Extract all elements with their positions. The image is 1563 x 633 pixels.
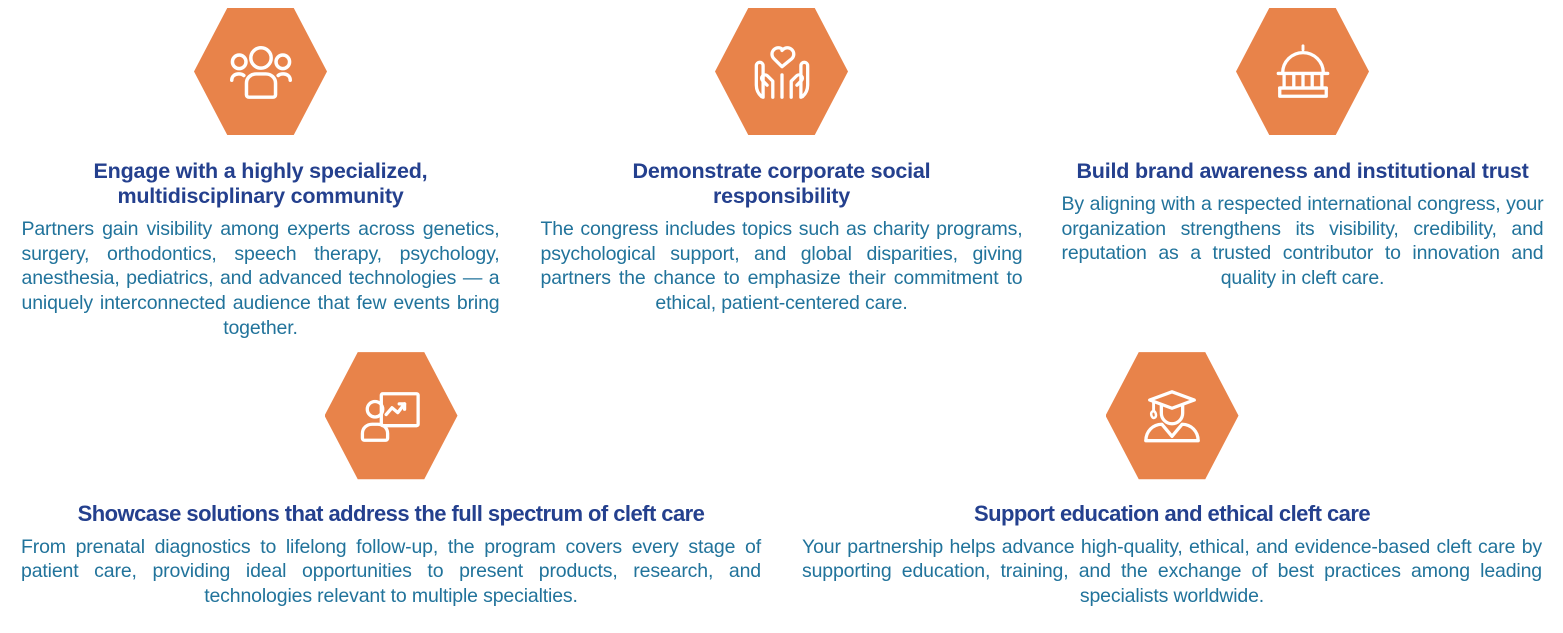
card-body: Partners gain visibility among experts a… bbox=[22, 217, 500, 340]
hexagon-badge bbox=[325, 350, 458, 481]
institution-building-icon bbox=[1272, 43, 1334, 101]
card-title: Support education and ethical cleft care bbox=[792, 501, 1552, 527]
benefit-card-showcase: Showcase solutions that address the full… bbox=[1, 350, 782, 608]
benefits-row-bottom: Showcase solutions that address the full… bbox=[0, 340, 1563, 608]
hexagon-badge bbox=[1106, 350, 1239, 481]
hexagon-badge bbox=[715, 6, 848, 137]
card-body: Your partnership helps advance high-qual… bbox=[802, 535, 1542, 609]
benefit-card-brand-trust: Build brand awareness and institutional … bbox=[1042, 6, 1563, 291]
card-title: Showcase solutions that address the full… bbox=[11, 501, 771, 527]
benefit-card-community: Engage with a highly specialized, multid… bbox=[0, 6, 521, 340]
card-title: Engage with a highly specialized, multid… bbox=[26, 159, 496, 209]
card-body: The congress includes topics such as cha… bbox=[541, 217, 1023, 316]
card-title: Demonstrate corporate social responsibil… bbox=[567, 159, 997, 209]
graduate-student-icon bbox=[1141, 387, 1203, 445]
card-title: Build brand awareness and institutional … bbox=[1058, 159, 1548, 184]
heart-in-hands-icon bbox=[751, 43, 813, 101]
card-body: From prenatal diagnostics to lifelong fo… bbox=[21, 535, 761, 609]
benefit-card-responsibility: Demonstrate corporate social responsibil… bbox=[521, 6, 1042, 316]
card-body: By aligning with a respected internation… bbox=[1062, 192, 1544, 291]
hexagon-badge bbox=[1236, 6, 1369, 137]
presentation-chart-icon bbox=[360, 387, 422, 445]
benefits-row-top: Engage with a highly specialized, multid… bbox=[0, 0, 1563, 340]
benefit-card-education: Support education and ethical cleft care… bbox=[782, 350, 1563, 608]
benefits-board: Engage with a highly specialized, multid… bbox=[0, 0, 1563, 633]
hexagon-badge bbox=[194, 6, 327, 137]
people-group-icon bbox=[230, 43, 292, 101]
